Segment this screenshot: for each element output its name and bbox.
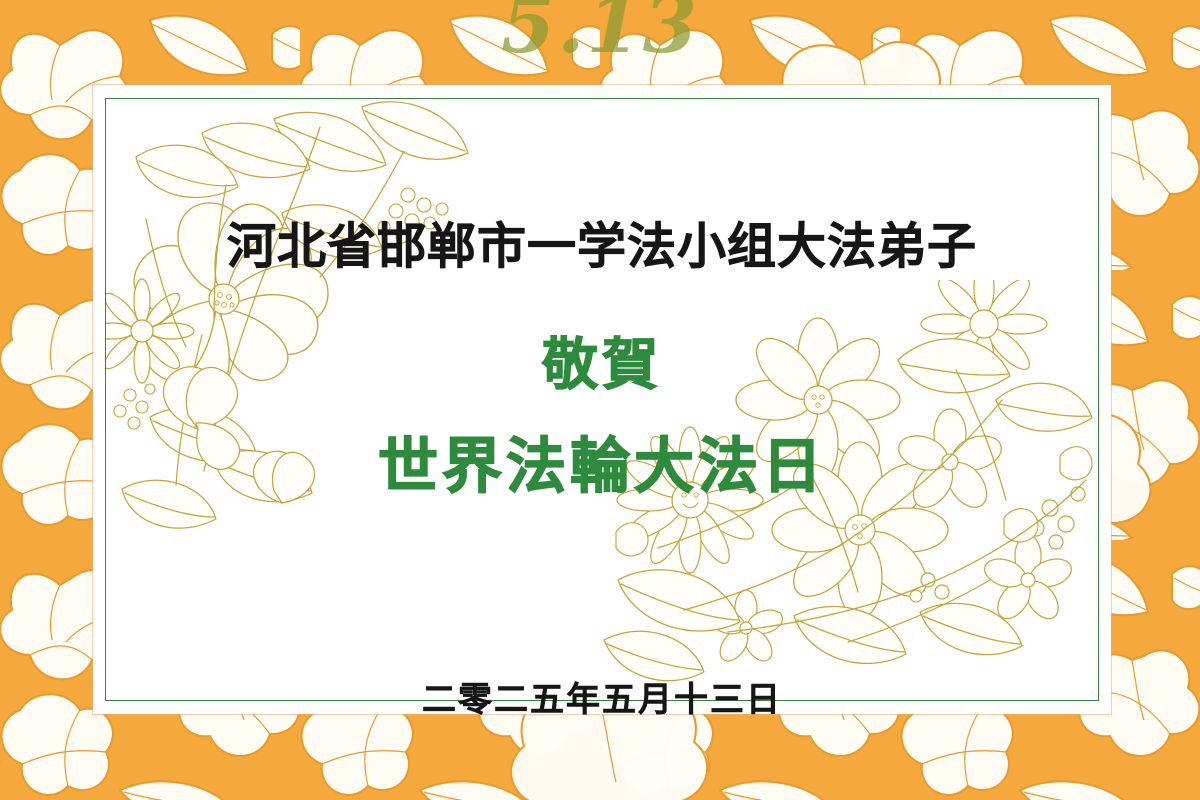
card-inner-border [105, 98, 1099, 701]
card-headline: 河北省邯郸市一学法小组大法弟子 [93, 222, 1111, 271]
greeting-card: 河北省邯郸市一学法小组大法弟子 敬賀 世界法輪大法日 二零二五年五月十三日 [93, 85, 1111, 714]
card-image-canvas: 5.13 [0, 0, 1200, 800]
card-date: 二零二五年五月十三日 [93, 683, 1111, 717]
card-main-title: 世界法輪大法日 [93, 437, 1111, 497]
card-greeting: 敬賀 [93, 338, 1111, 394]
